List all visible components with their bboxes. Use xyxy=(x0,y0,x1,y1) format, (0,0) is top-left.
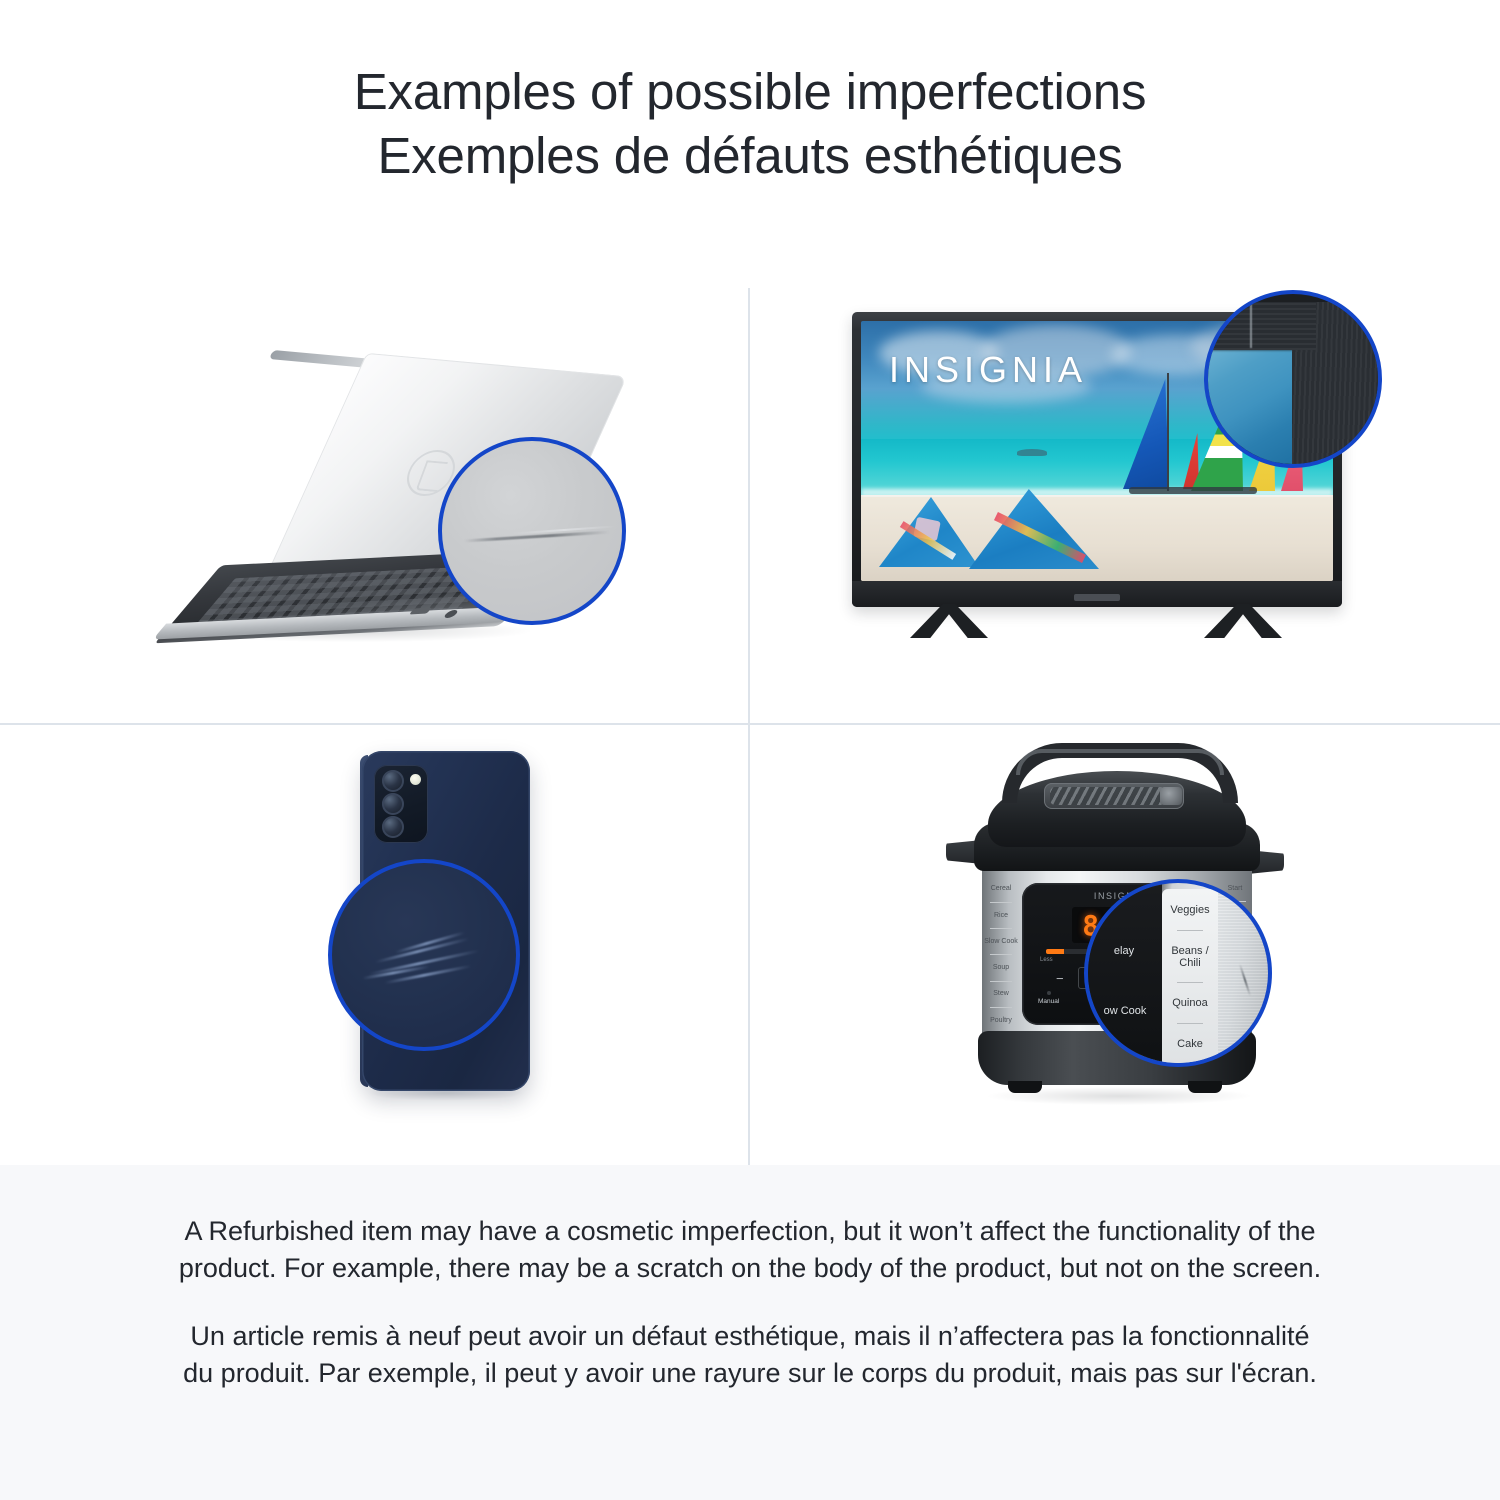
led-indicator xyxy=(1047,991,1051,995)
cooker-key[interactable]: Poultry xyxy=(981,1017,1021,1025)
magnifier-tv-scratch xyxy=(1204,290,1382,468)
key-separator xyxy=(990,981,1012,982)
magnifier-phone-scratches xyxy=(328,859,520,1051)
camera-flash-icon xyxy=(410,774,421,785)
pressure-cooker-illustration: Cereal Rice Slow Cook Soup Stew Poultry … xyxy=(932,731,1332,1131)
cooker-key[interactable]: Stew xyxy=(981,990,1021,998)
key-separator xyxy=(1177,930,1203,931)
title-english: Examples of possible imperfections xyxy=(0,60,1500,124)
quadrant-phone xyxy=(0,725,748,1165)
key-separator xyxy=(1177,982,1203,983)
laptop-illustration xyxy=(150,352,630,672)
cooker-zoom-keys: Veggies Beans / Chili Quinoa Cake xyxy=(1162,889,1218,1065)
camera-module-icon xyxy=(374,765,428,843)
key-separator xyxy=(990,1007,1012,1008)
magnifier-cooker-scratch: elay ow Cook Veggies Beans / Chili Quino… xyxy=(1084,879,1272,1067)
cooker-left-keys: Cereal Rice Slow Cook Soup Stew Poultry xyxy=(980,881,1022,1029)
boat-hull xyxy=(1129,487,1257,494)
tv-brand-label: INSIGNIA xyxy=(889,349,1087,391)
tv-leg-right xyxy=(1204,604,1282,638)
cooker-foot xyxy=(1008,1081,1042,1093)
sailboat-blue xyxy=(1123,379,1169,489)
camera-lens-icon xyxy=(382,770,404,792)
title-french: Exemples de défauts esthétiques xyxy=(0,124,1500,188)
cooker-key[interactable]: Rice xyxy=(981,912,1021,920)
quadrant-laptop xyxy=(0,252,748,723)
cooker-zoom-key-veggies[interactable]: Veggies xyxy=(1170,904,1209,916)
camera-lens-icon xyxy=(382,816,404,838)
magnifier-laptop-scratch xyxy=(438,437,626,625)
cooker-foot xyxy=(1188,1081,1222,1093)
product-example-grid: INSIGNIA xyxy=(0,252,1500,1165)
cooker-zoom-panel xyxy=(1088,883,1162,1067)
cooker-key[interactable]: Soup xyxy=(981,964,1021,972)
scratch-mark xyxy=(375,937,469,963)
key-separator xyxy=(990,928,1012,929)
quadrant-pressure-cooker: Cereal Rice Slow Cook Soup Stew Poultry … xyxy=(750,725,1500,1165)
camera-lens-icon xyxy=(382,793,404,815)
tv-leg-left xyxy=(910,604,988,638)
cooker-key-manual[interactable]: Manual xyxy=(1038,991,1059,1005)
cooker-handle-highlight xyxy=(1016,749,1224,775)
phone-illustration xyxy=(282,737,562,1127)
cooker-key[interactable]: Cereal xyxy=(981,885,1021,893)
bar-label-less: Less xyxy=(1040,957,1053,963)
cooker-key-label: Manual xyxy=(1038,998,1059,1005)
sail-mast xyxy=(1167,373,1169,491)
footer-paragraph-french: Un article remis à neuf peut avoir un dé… xyxy=(175,1318,1325,1391)
cooker-zoom-key-cake[interactable]: Cake xyxy=(1177,1038,1203,1050)
tv-zoom-bezel-top xyxy=(1204,302,1316,350)
cooker-zoom-brushed-steel xyxy=(1218,883,1272,1067)
key-separator xyxy=(1177,1023,1203,1024)
tv-illustration: INSIGNIA xyxy=(852,290,1372,670)
cooker-key[interactable]: Slow Cook xyxy=(981,938,1021,946)
tv-chin xyxy=(852,581,1342,607)
cooker-minus-button[interactable]: − xyxy=(1056,971,1064,986)
tv-chin-logo xyxy=(1074,594,1120,601)
cooker-zoom-key-beans-chili[interactable]: Beans / Chili xyxy=(1162,945,1218,969)
islet xyxy=(1017,449,1047,456)
footer-description: A Refurbished item may have a cosmetic i… xyxy=(0,1165,1500,1500)
key-separator xyxy=(990,902,1012,903)
cooker-zoom-label-slow-cook: ow Cook xyxy=(1090,1005,1160,1017)
key-separator xyxy=(990,954,1012,955)
scratch-mark xyxy=(1250,304,1252,348)
cooker-zoom-label-delay: elay xyxy=(1092,945,1156,957)
footer-paragraph-english: A Refurbished item may have a cosmetic i… xyxy=(175,1213,1325,1286)
page-title: Examples of possible imperfections Exemp… xyxy=(0,60,1500,188)
cooker-zoom-key-quinoa[interactable]: Quinoa xyxy=(1172,997,1207,1009)
quadrant-tv: INSIGNIA xyxy=(750,252,1500,723)
refurbished-imperfections-infographic: Examples of possible imperfections Exemp… xyxy=(0,0,1500,1500)
